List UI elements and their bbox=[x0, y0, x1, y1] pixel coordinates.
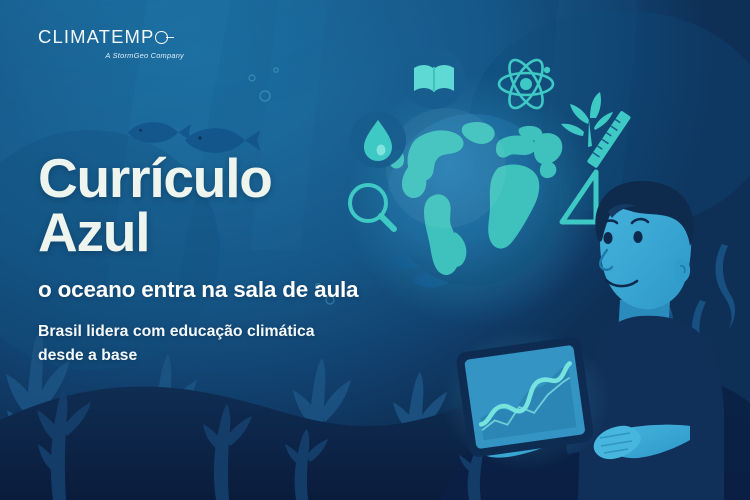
poster-canvas: CLIMATEMP A StormGeo Company Currículo A… bbox=[0, 0, 750, 500]
text-block: Currículo Azul o oceano entra na sala de… bbox=[38, 152, 418, 368]
logo-wordmark-row: CLIMATEMP bbox=[38, 28, 188, 47]
o-with-dash-icon bbox=[155, 30, 170, 45]
page-title: Currículo Azul bbox=[38, 152, 418, 260]
open-book-icon bbox=[403, 47, 465, 109]
tablet-device[interactable] bbox=[440, 328, 610, 472]
brand-logo[interactable]: CLIMATEMP A StormGeo Company bbox=[38, 28, 188, 60]
body-copy: Brasil lidera com educação climática des… bbox=[38, 320, 418, 368]
logo-tagline: A StormGeo Company bbox=[38, 51, 188, 60]
subtitle: o oceano entra na sala de aula bbox=[38, 277, 418, 303]
eye-left bbox=[603, 232, 612, 244]
eye-right bbox=[633, 231, 642, 243]
logo-wordmark: CLIMATEMP bbox=[38, 28, 154, 47]
